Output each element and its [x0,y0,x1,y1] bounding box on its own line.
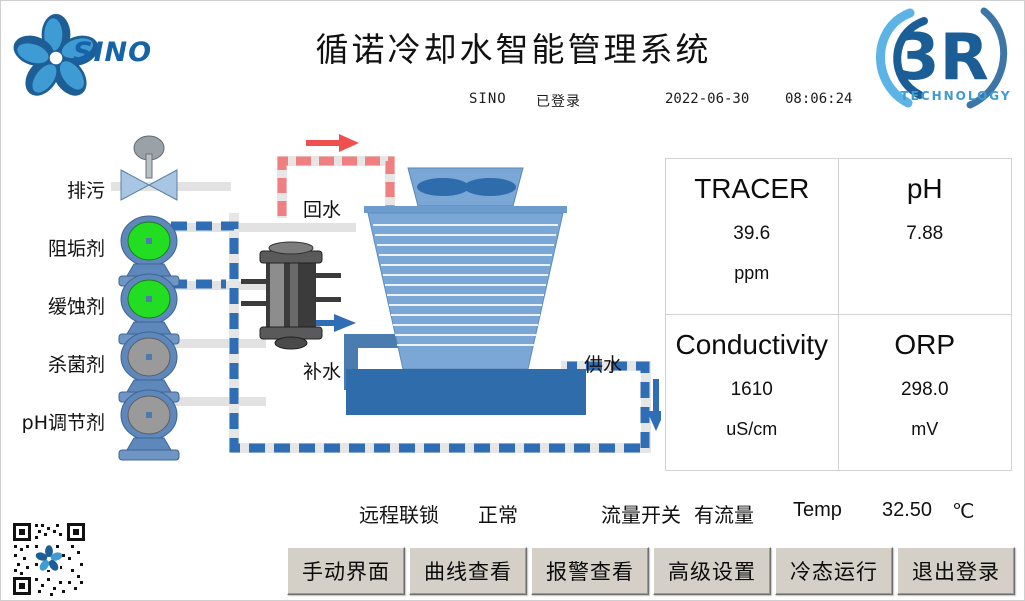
sidebar-item-biocide: 杀菌剂 [5,350,105,377]
sidebar-item-corrosion-inhibitor: 缓蚀剂 [5,292,105,319]
ph-value: 7.88 [906,223,943,245]
flow-switch-label: 流量开关 [601,499,681,528]
flow-switch-value: 有流量 [694,499,754,528]
header: SINO 循诺冷却水智能管理系统 SINO 已登录 2022-06-30 08:… [1,1,1025,121]
orp-label: ORP [894,329,955,361]
trend-curves-button[interactable]: 曲线查看 [409,547,527,595]
measurement-cell-ph[interactable]: pH 7.88 [839,159,1012,315]
sidebar-item-antiscalant: 阻垢剂 [5,234,105,261]
alarm-view-button[interactable]: 报警查看 [531,547,649,595]
conductivity-label: Conductivity [675,329,828,361]
tower-basin [346,369,586,415]
current-user: SINO [469,91,507,107]
remote-interlock-value: 正常 [478,499,518,528]
ph-label: pH [907,173,943,205]
measurement-cell-orp[interactable]: ORP 298.0 mV [839,315,1012,471]
fan-blade-right [464,178,516,196]
scada-screen: SINO 循诺冷却水智能管理系统 SINO 已登录 2022-06-30 08:… [0,0,1025,601]
dosing-pump-4[interactable] [119,390,179,460]
conductivity-unit: uS/cm [726,419,777,440]
measurement-panel: TRACER 39.6 ppm pH 7.88 Conductivity 161… [665,158,1012,471]
label-return-water: 回水 [303,199,341,221]
temp-value: 32.50 [882,499,932,522]
label-supply-water: 供水 [584,354,622,376]
return-water-arrow [306,134,359,152]
measurement-cell-conductivity[interactable]: Conductivity 1610 uS/cm [666,315,839,471]
button-bar: 手动界面 曲线查看 报警查看 高级设置 冷态运行 退出登录 [287,547,1015,595]
tracer-unit: ppm [734,263,769,284]
3r-technology-logo: 3R TECHNOLOGY [864,5,1014,115]
advanced-settings-button[interactable]: 高级设置 [653,547,771,595]
orp-unit: mV [911,419,938,440]
logout-button[interactable]: 退出登录 [897,547,1015,595]
sidebar-item-blowdown: 排污 [15,176,105,203]
measurement-cell-tracer[interactable]: TRACER 39.6 ppm [666,159,839,315]
cooling-tower [346,168,586,415]
login-status: 已登录 [536,91,581,111]
water-analyzer-icon[interactable] [241,242,341,349]
current-date: 2022-06-30 [665,91,749,107]
tracer-label: TRACER [694,173,809,205]
svg-text:TECHNOLOGY: TECHNOLOGY [900,89,1011,103]
cold-standby-button[interactable]: 冷态运行 [775,547,893,595]
current-time: 08:06:24 [785,91,852,107]
remote-interlock-label: 远程联锁 [359,499,439,528]
svg-text:3R: 3R [895,21,989,95]
qr-code-icon [11,521,87,597]
process-diagram: 回水 补水 供水 排污 阻垢剂 缓蚀剂 杀菌剂 pH调节剂 [1,121,661,481]
conductivity-value: 1610 [731,379,773,401]
sidebar-item-ph-adjuster: pH调节剂 [0,408,105,435]
temp-unit: ℃ [952,499,974,524]
orp-value: 298.0 [901,379,949,401]
qr-code[interactable] [11,521,87,597]
status-bar: 远程联锁 正常 流量开关 有流量 Temp 32.50 ℃ [1,493,1025,533]
fan-blade-left [417,178,469,196]
tracer-value: 39.6 [733,223,770,245]
label-makeup-water: 补水 [303,361,341,383]
manual-interface-button[interactable]: 手动界面 [287,547,405,595]
temp-label: Temp [793,499,842,522]
